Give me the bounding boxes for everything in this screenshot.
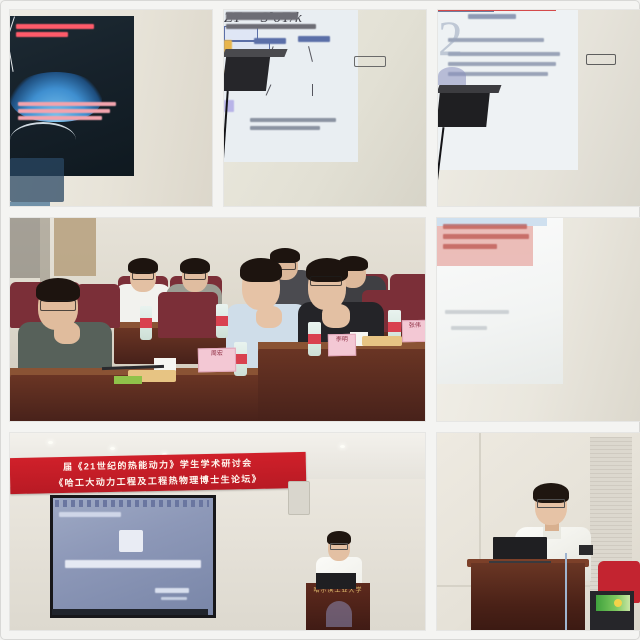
panel-presenter-at-lectern-white-shirt[interactable] — [436, 432, 640, 631]
laptop-keyboard — [223, 49, 288, 57]
slide-laptop-icon — [119, 530, 143, 552]
person-hand — [54, 322, 80, 344]
ceiling-light-6 — [340, 445, 345, 448]
eyeglasses — [184, 272, 206, 280]
slide-title-block — [437, 226, 533, 266]
slide-arrow-left — [9, 16, 15, 41]
podium — [471, 563, 585, 631]
bottle-label-2 — [216, 316, 228, 326]
cabinet-display-panel — [596, 595, 630, 611]
name-card-text: 周宏 — [199, 349, 235, 360]
snack-plate-2 — [362, 336, 402, 346]
eyeglasses — [330, 543, 348, 550]
collage-row-3: 届《21世纪的热能动力》学生学术研讨会 《哈工大动力工程及工程热物理博士生论坛》 — [9, 432, 631, 631]
eyeglasses — [354, 56, 386, 67]
desk-front-right — [258, 349, 426, 421]
slide-title-line-3 — [443, 244, 497, 249]
laptop-screen — [437, 93, 490, 127]
projection-screen — [437, 218, 563, 384]
eyeglasses — [586, 54, 616, 65]
slide-presenter-text — [155, 588, 189, 593]
panel-african-male-speaker-presenting[interactable] — [9, 9, 213, 207]
snack-wrapper — [114, 376, 142, 384]
seat-mid-3 — [158, 292, 218, 338]
slide-title-text — [65, 560, 201, 568]
photo-scene-6: 届《21世纪的热能动力》学生学术研讨会 《哈工大动力工程及工程热物理博士生论坛》 — [10, 433, 425, 630]
cabinet-indicator — [614, 599, 622, 607]
photo-scene-7 — [437, 433, 640, 630]
collage-grid: ZT = S²σT/k — [9, 9, 631, 631]
slide-heading-line-1 — [16, 24, 94, 29]
bottle-label-1 — [140, 318, 152, 328]
slide-body-line-2 — [18, 109, 110, 113]
slide-title-line-1 — [443, 224, 527, 229]
collage-row-1: ZT = S²σT/k — [9, 9, 631, 207]
ceiling-light-2 — [110, 447, 115, 450]
laptop-screen — [223, 57, 270, 91]
laptop-keyboard — [437, 85, 501, 93]
name-card-text: 张伟 — [403, 321, 426, 331]
projection-screen — [10, 16, 134, 176]
slide-label-seebeck — [254, 38, 286, 44]
slide-globe-graphic — [10, 72, 102, 122]
podium-emblem — [326, 601, 352, 627]
panel-male-student-speaker-hit-podium[interactable]: 2 建大学 TH — [437, 9, 640, 207]
slide-label-temperature — [298, 36, 330, 42]
person-hand — [322, 304, 350, 328]
person-hand — [256, 306, 282, 328]
power-cable — [565, 553, 567, 631]
slide-affiliation — [451, 326, 487, 330]
eyeglasses — [132, 272, 154, 280]
screen-bottom-tray — [52, 609, 208, 615]
panel-female-speaker-thermoelectric-formula[interactable]: ZT = S²σT/k — [223, 9, 427, 207]
eyeglasses — [40, 300, 76, 311]
wall-speaker — [288, 481, 310, 515]
projection-screen — [50, 495, 216, 618]
slide-heading — [226, 12, 298, 20]
wall-wood-panel — [54, 218, 96, 276]
photo-scene-3: 2 建大学 TH — [438, 10, 640, 206]
slide-date-text — [161, 597, 187, 600]
panel-african-speaker-english-slide[interactable] — [436, 217, 640, 421]
photo-scene-5 — [437, 218, 640, 420]
name-card-2: 李明 — [328, 334, 356, 356]
name-card-1: 周宏 — [198, 348, 236, 373]
person-hair — [36, 278, 80, 302]
slide-subheading — [226, 24, 316, 29]
photo-scene-1 — [10, 10, 212, 206]
bottle-label-5 — [388, 322, 401, 332]
photo-scene-2: ZT = S²σT/k — [224, 10, 426, 206]
slide-diagram-inner — [10, 202, 50, 207]
shirt-sleeve-trim — [579, 545, 593, 555]
slide-globe-arc — [10, 122, 76, 158]
slide-leader-lower-right — [312, 84, 313, 96]
bottle-label-4 — [308, 334, 321, 344]
slide-header-text — [59, 512, 121, 517]
slide-watermark: 2 — [438, 12, 492, 70]
wall-column — [40, 218, 50, 284]
panel-seated-audience-conference-room[interactable]: 周宏 李明 张伟 — [9, 217, 426, 421]
eyeglasses — [537, 499, 565, 508]
photo-collage: ZT = S²σT/k — [0, 0, 640, 640]
slide-footnote-2 — [250, 126, 320, 130]
slide-diagram-panel — [10, 158, 64, 202]
slide-body-line-1 — [18, 102, 116, 106]
slide-body-line-3 — [18, 116, 102, 120]
name-card-text: 李明 — [329, 335, 355, 345]
slide-banner-decoration — [55, 500, 209, 507]
podium-emblem — [438, 67, 466, 85]
slide-heading-line-2 — [16, 32, 68, 37]
event-banner: 届《21世纪的热能动力》学生学术研讨会 《哈工大动力工程及工程热物理博士生论坛》 — [10, 452, 307, 494]
slide-leader-right — [308, 46, 313, 62]
laptop-screen — [316, 573, 356, 589]
slide-arrow-right — [9, 42, 14, 72]
slide-author — [445, 310, 509, 314]
panel-lecture-hall-with-red-banner[interactable]: 届《21世纪的热能动力》学生学术研讨会 《哈工大动力工程及工程热物理博士生论坛》 — [9, 432, 426, 631]
person-hair — [240, 258, 282, 282]
photo-scene-4: 周宏 李明 张伟 — [10, 218, 425, 420]
name-card-3: 张伟 — [402, 320, 426, 342]
collage-row-2: 周宏 李明 张伟 — [9, 217, 631, 421]
slide-footnote-1 — [250, 118, 336, 122]
ceiling-light-1 — [48, 441, 53, 444]
wall-doorway — [10, 218, 40, 278]
eyeglasses — [310, 276, 342, 286]
slide-title-line-2 — [443, 234, 529, 239]
